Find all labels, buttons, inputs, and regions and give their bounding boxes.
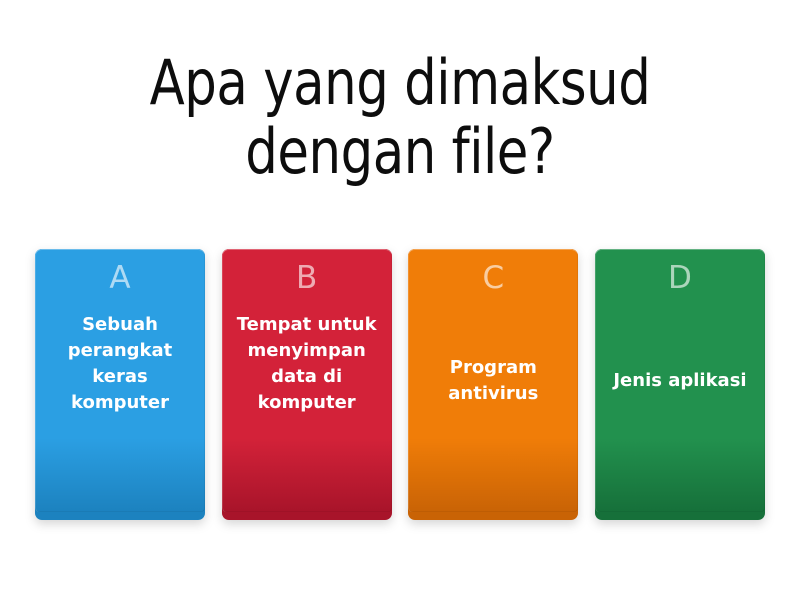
answer-text-c: Program antivirus xyxy=(408,355,578,407)
answer-card-face-d: D Jenis aplikasi xyxy=(595,249,765,512)
answer-option-d[interactable]: D Jenis aplikasi xyxy=(595,249,765,520)
answer-letter-d: D xyxy=(668,263,692,294)
answer-letter-b: B xyxy=(296,263,317,294)
answer-card-face-a: A Sebuah perangkat keras komputer xyxy=(35,249,205,512)
answer-letter-a: A xyxy=(109,263,130,294)
answer-option-c[interactable]: C Program antivirus xyxy=(408,249,578,520)
answer-card-face-c: C Program antivirus xyxy=(408,249,578,512)
quiz-slide: Apa yang dimaksud dengan file? A Sebuah … xyxy=(0,0,800,600)
answer-card-face-b: B Tempat untuk menyimpan data di kompute… xyxy=(222,249,392,512)
answer-text-a: Sebuah perangkat keras komputer xyxy=(35,312,205,416)
answer-option-b[interactable]: B Tempat untuk menyimpan data di kompute… xyxy=(222,249,392,520)
answer-letter-c: C xyxy=(482,263,504,294)
answer-text-b: Tempat untuk menyimpan data di komputer xyxy=(222,312,392,416)
answer-text-d: Jenis aplikasi xyxy=(595,368,765,394)
answer-option-a[interactable]: A Sebuah perangkat keras komputer xyxy=(35,249,205,520)
answer-options-row: A Sebuah perangkat keras komputer B Temp… xyxy=(35,249,765,524)
page-title: Apa yang dimaksud dengan file? xyxy=(69,48,731,187)
question-area: Apa yang dimaksud dengan file? xyxy=(40,48,760,187)
